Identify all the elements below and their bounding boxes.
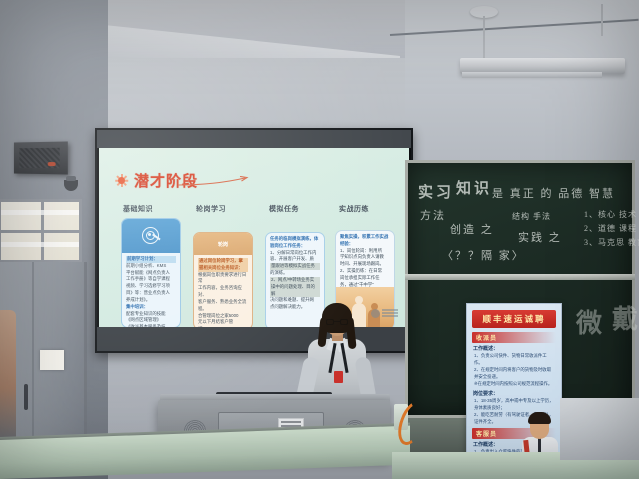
chalk-note: 知识 — [456, 177, 492, 198]
presenter-hair — [322, 303, 352, 333]
card4-heading: 聚焦实操，积累工作实战经验： — [340, 234, 390, 248]
glasses-icon — [326, 319, 348, 325]
card2-line: 客户服务、熟悉业务全流 — [198, 299, 248, 306]
card1-line2: 《收派基本服务及技 — [126, 324, 176, 327]
window-slat — [1, 242, 79, 247]
classroom-window — [0, 199, 82, 263]
lamp-rod — [483, 16, 485, 60]
card2-heading: 通过岗位轮岗学习，掌握相关岗位业务知识： — [198, 258, 248, 272]
target-icon — [141, 226, 161, 246]
slide-card-basic-knowledge: 前期学习计划： 前期小组分析、KMS 平台赋能《网点负责人 工作手册》等自学课程… — [121, 218, 181, 327]
column-header-3: 模拟任务 — [269, 204, 299, 214]
card-body: 通过岗位轮岗学习，掌握相关岗位业务知识： 根据岗位职责要求进行日常 工作内容，业… — [194, 255, 252, 327]
window-mullion-horizontal — [1, 230, 79, 233]
card3-line: 的演练。 — [270, 270, 320, 277]
logo-mark — [371, 309, 380, 318]
card1-line: 前期小组分析、KMS — [126, 263, 176, 270]
poster-title: 顺丰速运诚聘 — [472, 310, 556, 328]
lamp-rod-secondary — [601, 4, 603, 36]
card3-line: 操中的问题处理、目的解 — [270, 284, 320, 298]
card3-line: 2、网点/中转场业务实 — [270, 277, 320, 284]
column-header-4: 实战历练 — [339, 204, 369, 214]
portrait-hair — [528, 412, 551, 424]
card-header-tan: 轮岗 — [194, 233, 252, 255]
chalk-note: 戴 — [612, 299, 639, 336]
card1-line: 养成计划》。 — [126, 297, 176, 304]
card4-line: 岗位承担实际工作任 — [340, 275, 390, 282]
poster-line: 1、18-35周岁，高中或中专及以上学历，身体素质良好； — [474, 398, 554, 411]
poster-line: ※在规定时间内按照公司规范流程操作。 — [474, 381, 554, 388]
presentation-slide: 潜才阶段 基础知识 轮岗学习 模拟任务 实战历练 — [99, 148, 409, 327]
poster-section-name-1: 收派员 — [472, 332, 556, 343]
slide-card-rotation-study: 轮岗 通过岗位轮岗学习，掌握相关岗位业务知识： 根据岗位职责要求进行日常 工作内… — [193, 232, 253, 327]
card1-heading: 前期学习计划： — [126, 256, 176, 263]
card-header-blue — [122, 219, 180, 253]
poster-line: 1、负责公司快件、货物日常收派件工作。 — [474, 353, 554, 366]
door-handle[interactable] — [24, 384, 28, 410]
card2-line: 工作内容，业务咨询应对、 — [198, 285, 248, 299]
chalk-note: 〈？？隔 家〉 — [442, 247, 525, 263]
wall-speaker — [14, 141, 68, 174]
logo-bars — [382, 309, 398, 317]
chalk-note: 创造 之 — [450, 221, 494, 237]
column-header-1: 基础知识 — [123, 204, 153, 214]
sun-icon — [115, 174, 128, 187]
poster-subheading: 岗位要求： — [473, 390, 555, 397]
curved-arrow-icon — [177, 176, 253, 188]
person-at-door — [0, 310, 16, 440]
chalk-note: 方法 — [420, 207, 446, 223]
upper-right-wall — [405, 0, 639, 160]
chalk-note: 结构 手法 — [512, 211, 551, 222]
chalk-rail — [405, 274, 635, 280]
door-split — [32, 262, 34, 442]
card2-line: 程。 — [198, 306, 248, 313]
card4-line: 2、实操历练：在日常 — [340, 268, 390, 275]
screen-letterbox-top — [97, 130, 411, 148]
card2-kicker: 轮岗 — [218, 241, 228, 248]
column-header-2: 轮岗学习 — [196, 204, 226, 214]
classroom-photo: 潜才阶段 基础知识 轮岗学习 模拟任务 实战历练 — [0, 0, 639, 479]
chalk-note: 1、核心 技术 — [584, 209, 637, 220]
card-body: 前期学习计划： 前期小组分析、KMS 平台赋能《网点负责人 工作手册》等自学课程… — [122, 253, 180, 327]
poster-line: 2、在规定时间内将客户的货物及时收取并安全投递。 — [474, 367, 554, 380]
card2-bullet: 订… — [198, 326, 248, 327]
chalk-note: 实践 之 — [518, 229, 562, 245]
card1-line: 目》等：营业点负责人 — [126, 290, 176, 297]
poster-subheading: 工作概述： — [473, 345, 555, 352]
chalk-note: 实习 — [418, 181, 454, 202]
chalk-note: 2、道德 课程 — [584, 223, 637, 234]
chalk-note: 3、马克思 教育 — [584, 237, 639, 248]
presenter-badge — [334, 371, 343, 383]
card2-line: 根据岗位职责要求进行日常 — [198, 272, 248, 286]
card3-heading: 任务的临岗模拟演练，体验岗位工作任务： — [270, 236, 320, 250]
fluorescent-light — [460, 58, 625, 74]
door-window — [40, 350, 64, 370]
chalk-note: 是 真正 的 品德 智慧 — [492, 185, 615, 201]
window-slat — [1, 210, 79, 215]
column-headers: 基础知识 轮岗学习 模拟任务 实战历练 — [99, 204, 409, 216]
right-cabinet — [560, 398, 639, 460]
card-body: 任务的临岗模拟演练，体验岗位工作任务： 1、分解日常岗位工作内 容、开展客户开发… — [266, 233, 324, 314]
chalk-note: 微 — [576, 303, 606, 340]
company-watermark-logo — [371, 307, 401, 319]
card1-heading-2: 集中培训： — [126, 304, 176, 311]
